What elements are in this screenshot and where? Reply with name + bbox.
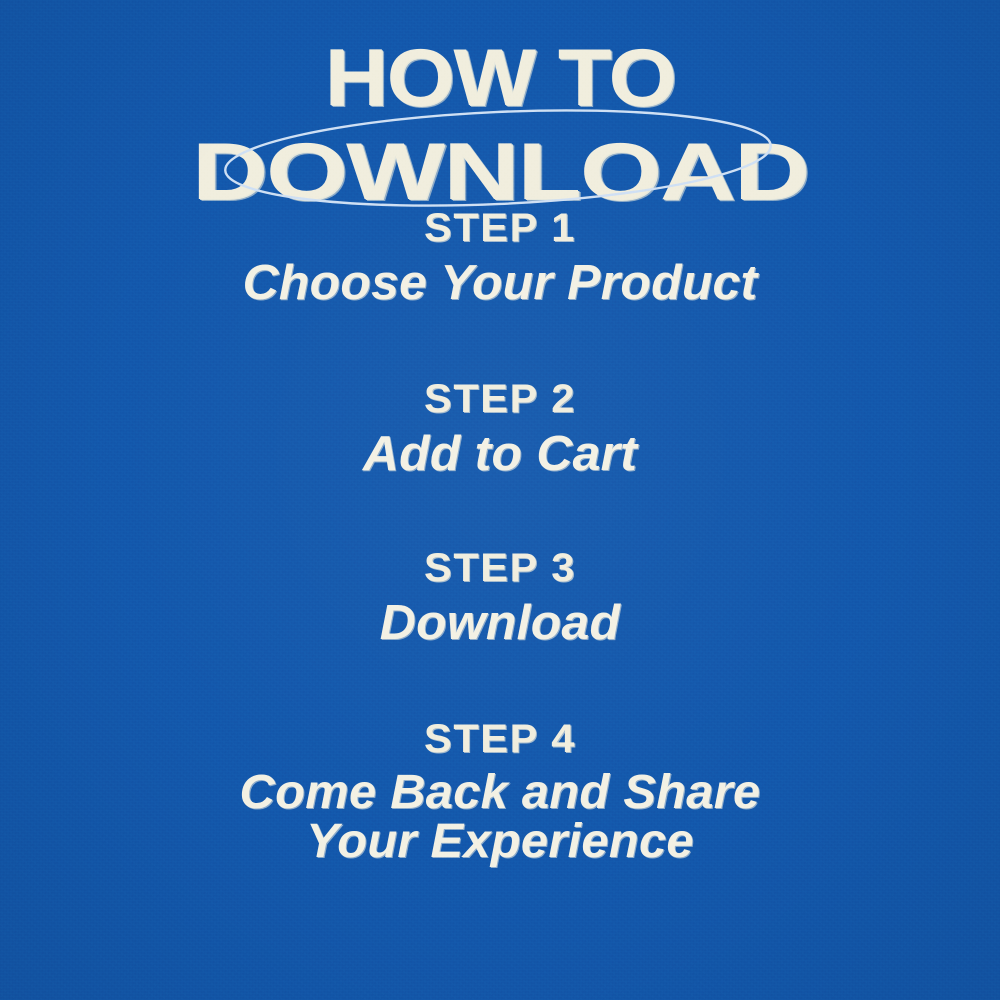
poster-canvas: HOW TO DOWNLOAD STEP 1 Choose Your Produ… — [0, 0, 1000, 1000]
title-block: HOW TO DOWNLOAD — [0, 26, 1000, 196]
ellipse-stroke — [223, 100, 773, 217]
step-description-2: Add to Cart — [0, 428, 1000, 482]
step-description-4-line-1: Come Back and Share — [240, 766, 761, 819]
step-item-1: STEP 1 Choose Your Product — [0, 206, 1000, 311]
step-description-1: Choose Your Product — [0, 257, 1000, 311]
step-description-4: Come Back and Share Your Experience — [0, 768, 1000, 867]
step-description-4-line-2: Your Experience — [0, 817, 1000, 866]
step-item-3: STEP 3 Download — [0, 546, 1000, 651]
step-label-2: STEP 2 — [0, 377, 1000, 421]
steps-list: STEP 1 Choose Your Product STEP 2 Add to… — [0, 206, 1000, 867]
step-label-3: STEP 3 — [0, 546, 1000, 590]
step-description-3: Download — [0, 597, 1000, 651]
step-item-4: STEP 4 Come Back and Share Your Experien… — [0, 717, 1000, 867]
title-line-1: HOW TO — [0, 36, 1000, 117]
step-item-2: STEP 2 Add to Cart — [0, 377, 1000, 482]
step-label-1: STEP 1 — [0, 206, 1000, 250]
step-label-4: STEP 4 — [0, 717, 1000, 761]
